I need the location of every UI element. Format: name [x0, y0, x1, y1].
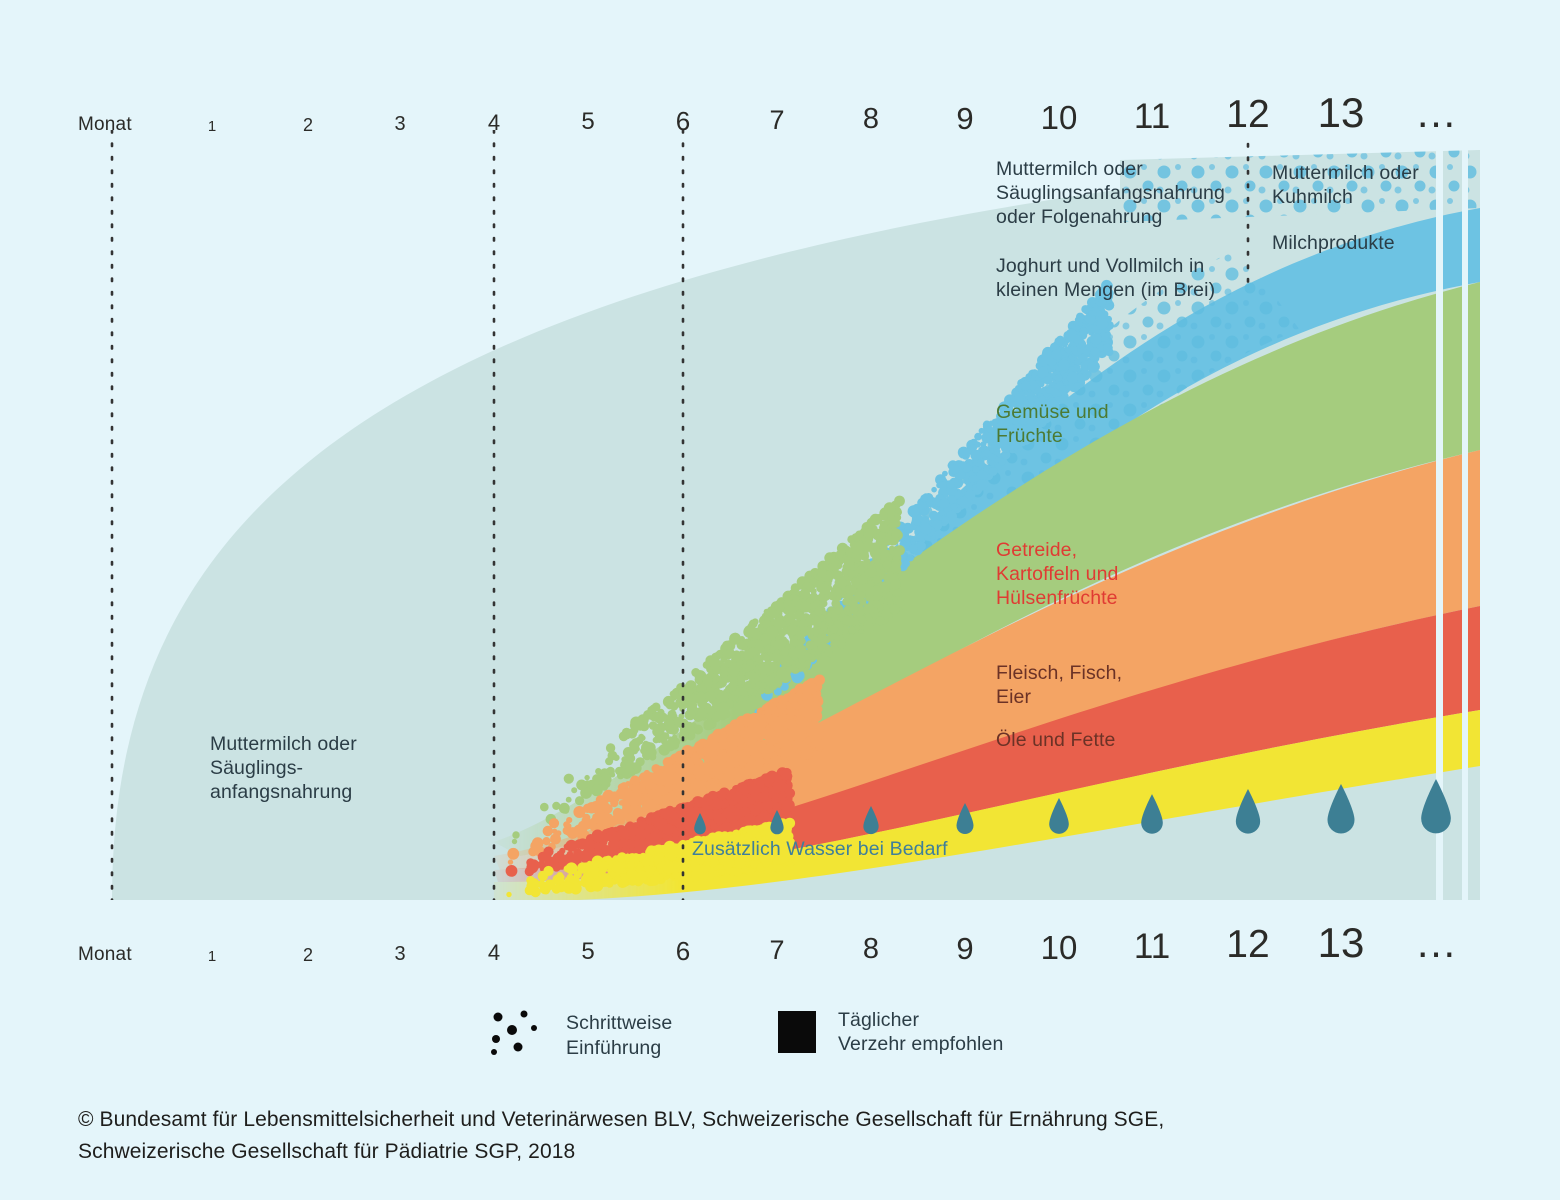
axis-bottom-title: Monat	[78, 945, 132, 964]
axis-bottom-tick-9: 9	[956, 933, 973, 964]
legend-label-daily: Täglicher Verzehr empfohlen	[838, 1008, 1003, 1057]
axis-bottom: Monat 12345678910111213…	[0, 912, 1560, 964]
axis-top-tick-13: 13	[1318, 92, 1365, 134]
band-label-meat_fish_egg: Fleisch, Fisch, Eier	[996, 662, 1122, 710]
band-label-oils_fats: Öle und Fette	[996, 729, 1115, 753]
water-drop-icon-4	[956, 803, 975, 840]
axis-bottom-tick-12: 12	[1226, 925, 1269, 964]
band-label-breastmilk_formula: Muttermilch oder Säuglingsanfangsnahrung…	[996, 158, 1225, 229]
axis-bottom-tick-11: 11	[1134, 929, 1170, 964]
stepwise-dots-icon	[488, 1008, 544, 1063]
water-drop-icon-7	[1235, 789, 1262, 840]
axis-top-tick-12: 12	[1226, 95, 1269, 134]
daily-solid-swatch	[778, 1011, 816, 1053]
axis-bottom-tick-1: 1	[208, 949, 216, 964]
water-drop-row	[0, 780, 1560, 840]
band-label-dairy_products: Milchprodukte	[1272, 232, 1395, 256]
axis-top-tick-more: …	[1415, 92, 1457, 134]
axis-bottom-tick-5: 5	[581, 940, 594, 964]
water-drop-icon-2	[770, 810, 785, 840]
axis-bottom-tick-3: 3	[394, 944, 405, 964]
legend-label-stepwise: Schrittweise Einführung	[566, 1011, 672, 1060]
band-label-grain_potato: Getreide, Kartoffeln und Hülsenfrüchte	[996, 539, 1118, 610]
axis-bottom-tick-13: 13	[1318, 922, 1365, 964]
axis-bottom-tick-4: 4	[488, 942, 500, 964]
water-drop-icon-6	[1140, 794, 1164, 840]
water-drop-icon-3	[863, 806, 880, 840]
axis-bottom-tick-7: 7	[769, 937, 784, 964]
legend-item-stepwise: Schrittweise Einführung	[488, 1008, 672, 1063]
axis-bottom-tick-more: …	[1415, 922, 1457, 964]
band-label-cow_milk: Muttermilch oder Kuhmilch	[1272, 162, 1419, 210]
axis-top-tick-11: 11	[1134, 99, 1170, 134]
legend: Schrittweise EinführungTäglicher Verzehr…	[0, 1000, 1560, 1070]
water-drop-icon-5	[1048, 798, 1070, 840]
axis-bottom-tick-8: 8	[863, 935, 879, 964]
axis-bottom-tick-6: 6	[676, 938, 690, 964]
water-drop-icon-9	[1420, 779, 1453, 840]
water-caption: Zusätzlich Wasser bei Bedarf	[692, 838, 948, 861]
water-drop-icon-8	[1326, 784, 1356, 840]
axis-bottom-tick-2: 2	[303, 946, 313, 964]
legend-item-daily: Täglicher Verzehr empfohlen	[778, 1008, 1003, 1057]
band-label-yoghurt_wholemilk: Joghurt und Vollmilch in kleinen Mengen …	[996, 255, 1215, 303]
axis-bottom-tick-10: 10	[1041, 931, 1078, 964]
infographic-canvas: Monat 12345678910111213…	[0, 0, 1560, 1200]
water-drop-icon-1	[694, 813, 707, 840]
axis-top: Monat 12345678910111213…	[0, 82, 1560, 134]
copyright-footer: © Bundesamt für Lebensmittelsicherheit u…	[78, 1104, 1478, 1167]
band-label-veg_fruit: Gemüse und Früchte	[996, 401, 1109, 449]
